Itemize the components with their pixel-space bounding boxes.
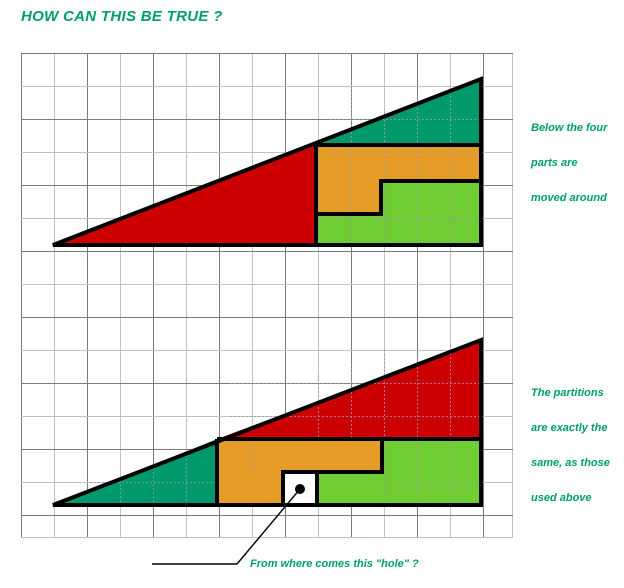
bottom-figure xyxy=(53,340,481,564)
bottom-note-line-1: The partitions xyxy=(531,388,604,399)
bottom-note-line-4: used above xyxy=(531,493,592,504)
top-figure xyxy=(53,79,481,245)
top-note-line-3: moved around xyxy=(531,193,607,204)
top-note-line-2: parts are xyxy=(531,158,577,169)
hole-caption: From where comes this "hole" ? xyxy=(250,558,419,570)
top-note-line-1: Below the four xyxy=(531,123,607,134)
bottom-note-line-2: are exactly the xyxy=(531,423,607,434)
bottom-note-line-3: same, as those xyxy=(531,458,610,469)
